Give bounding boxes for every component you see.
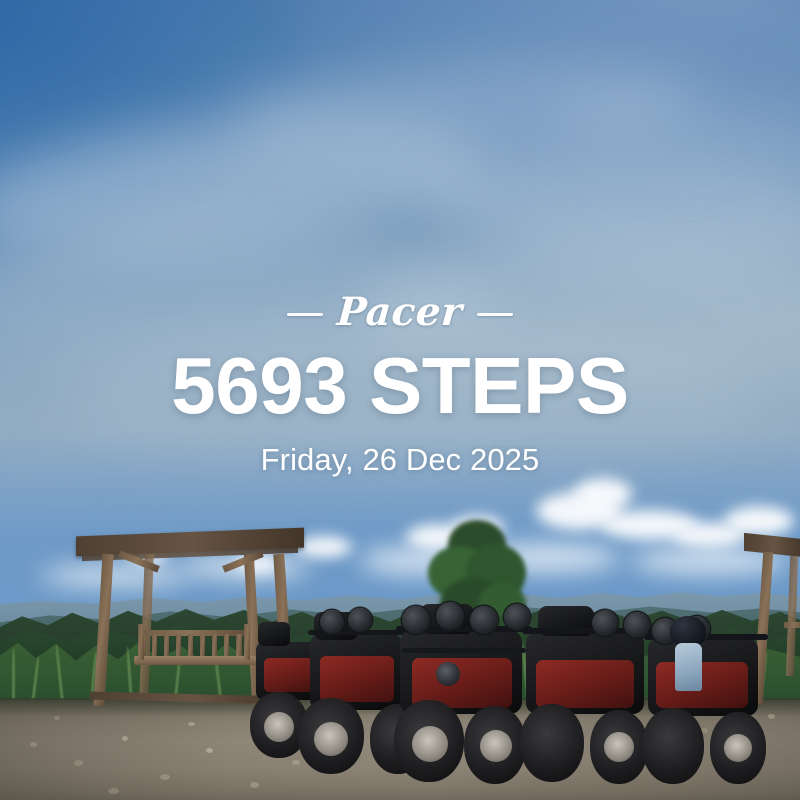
brand-logo-row: Pacer [0, 286, 800, 342]
pacer-step-share-card: Pacer 5693 STEPS Friday, 26 Dec 2025 [0, 0, 800, 800]
logo-dash-left-icon [287, 313, 323, 316]
date-label: Friday, 26 Dec 2025 [0, 443, 800, 477]
share-card-overlay: Pacer 5693 STEPS Friday, 26 Dec 2025 [0, 286, 800, 477]
steps-headline: 5693 STEPS [0, 344, 800, 427]
brand-logo-text: Pacer [336, 293, 464, 335]
logo-dash-right-icon [477, 313, 513, 316]
